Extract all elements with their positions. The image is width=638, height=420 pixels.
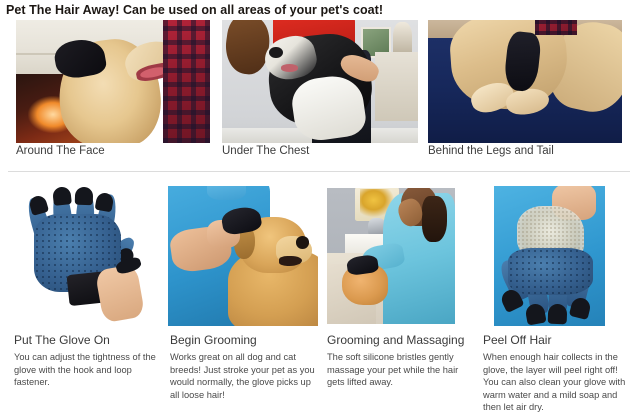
- caption-under-the-chest: Under The Chest: [222, 145, 309, 157]
- step-title-begin-grooming: Begin Grooming: [170, 333, 316, 347]
- page-title: Pet The Hair Away! Can be used on all ar…: [0, 0, 638, 18]
- illustration-man-grooming-retriever: [168, 186, 318, 326]
- step-description-grooming-and-massaging: The soft silicone bristles gently massag…: [327, 351, 477, 389]
- top-image-around-the-face[interactable]: [16, 20, 210, 143]
- illustration-peeling-hair-off-glove: [482, 186, 628, 326]
- step-column-peel-off-hair: Peel Off Hair When enough hair collects …: [483, 333, 635, 414]
- step-image-begin-grooming[interactable]: [168, 186, 318, 326]
- top-image-under-the-chest[interactable]: [222, 20, 418, 143]
- step-column-put-the-glove-on: Put The Glove On You can adjust the tigh…: [14, 333, 160, 389]
- step-column-begin-grooming: Begin Grooming Works great on all dog an…: [170, 333, 316, 401]
- step-description-put-the-glove-on: You can adjust the tightness of the glov…: [14, 351, 160, 389]
- step-title-peel-off-hair: Peel Off Hair: [483, 333, 635, 347]
- section-divider: [8, 171, 630, 172]
- step-title-put-the-glove-on: Put The Glove On: [14, 333, 160, 347]
- illustration-glove-on-hand: [12, 186, 152, 326]
- caption-behind-the-legs-and-tail: Behind the Legs and Tail: [428, 145, 554, 157]
- step-title-grooming-and-massaging: Grooming and Massaging: [327, 333, 477, 347]
- top-caption-row: Around The Face Under The Chest Behind t…: [0, 145, 638, 163]
- step-image-peel-off-hair[interactable]: [482, 186, 628, 326]
- step-image-grooming-and-massaging[interactable]: [327, 188, 455, 324]
- step-column-grooming-and-massaging: Grooming and Massaging The soft silicone…: [327, 333, 477, 389]
- step-description-begin-grooming: Works great on all dog and cat breeds! J…: [170, 351, 316, 401]
- caption-around-the-face: Around The Face: [16, 145, 105, 157]
- illustration-legs-tail-grooming: [428, 20, 622, 143]
- step-image-put-the-glove-on[interactable]: [12, 186, 152, 326]
- top-image-row: [0, 20, 638, 143]
- top-image-behind-legs-and-tail[interactable]: [428, 20, 622, 143]
- illustration-dog-face-grooming: [16, 20, 210, 143]
- illustration-great-dane-grooming: [222, 20, 418, 143]
- illustration-woman-grooming-cat: [327, 188, 455, 324]
- bottom-image-row: [0, 186, 638, 326]
- step-description-peel-off-hair: When enough hair collects in the glove, …: [483, 351, 635, 414]
- bottom-text-row: Put The Glove On You can adjust the tigh…: [0, 333, 638, 420]
